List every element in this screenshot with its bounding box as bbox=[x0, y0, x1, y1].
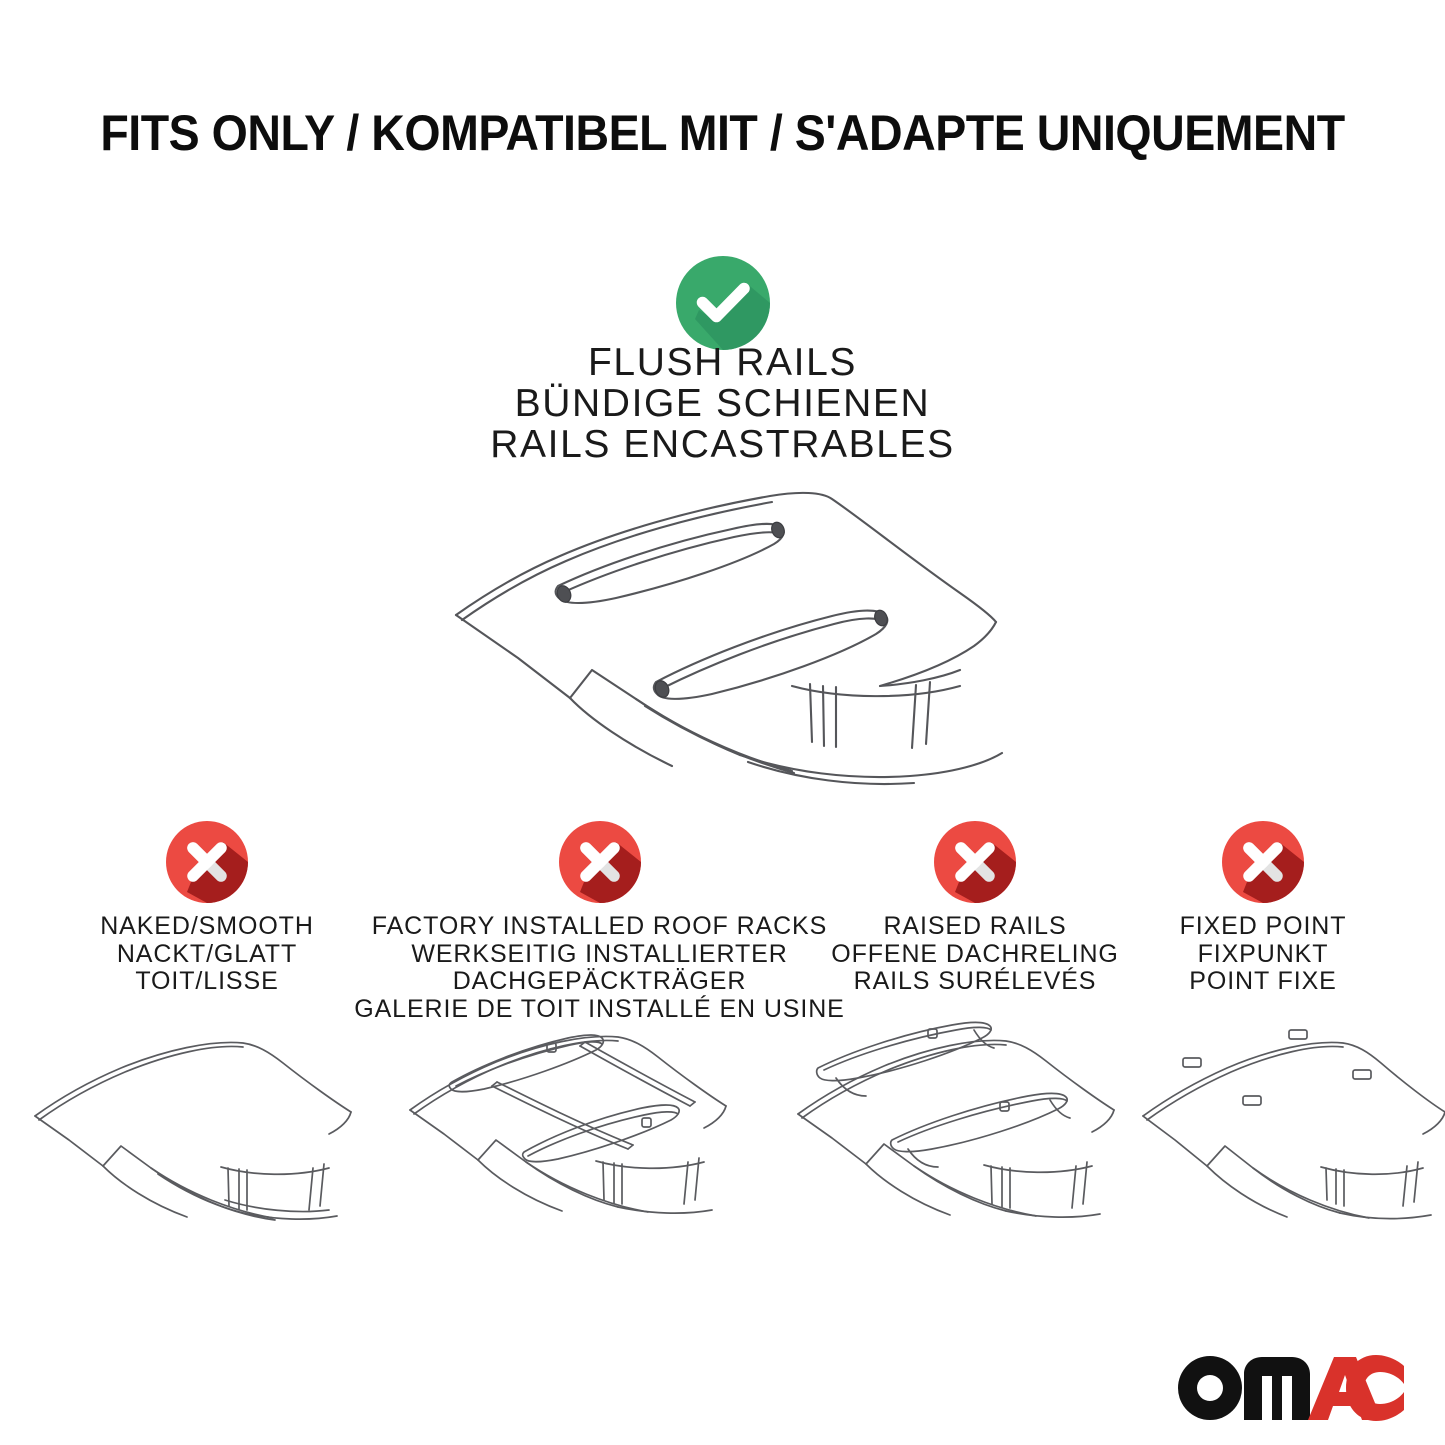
caption-line-en: NAKED/SMOOTH bbox=[100, 913, 314, 941]
incompatible-caption: FIXED POINT FIXPUNKT POINT FIXE bbox=[1180, 913, 1347, 996]
x-circle-icon bbox=[165, 820, 249, 904]
caption-line-de-2: DACHGEPÄCKTRÄGER bbox=[354, 968, 845, 996]
caption-line-fr: TOIT/LISSE bbox=[100, 968, 314, 996]
car-roof-flush-rails-illustration bbox=[440, 470, 1020, 790]
caption-line-de: FIXPUNKT bbox=[1180, 941, 1347, 969]
caption-line-de-1: WERKSEITIG INSTALLIERTER bbox=[354, 941, 845, 969]
compatible-label-fr: RAILS ENCASTRABLES bbox=[0, 424, 1445, 465]
compatible-label-de: BÜNDIGE SCHIENEN bbox=[0, 383, 1445, 424]
caption-line-en: FACTORY INSTALLED ROOF RACKS bbox=[354, 913, 845, 941]
x-circle-icon bbox=[933, 820, 1017, 904]
caption-line-fr: POINT FIXE bbox=[1180, 968, 1347, 996]
x-circle-icon bbox=[1221, 820, 1305, 904]
omac-logo bbox=[1176, 1352, 1404, 1422]
car-roof-factory-racks-illustration bbox=[400, 1000, 750, 1220]
caption-line-en: RAISED RAILS bbox=[831, 913, 1119, 941]
x-circle-icon bbox=[558, 820, 642, 904]
caption-line-de: OFFENE DACHRELING bbox=[831, 941, 1119, 969]
page-title: FITS ONLY / KOMPATIBEL MIT / S'ADAPTE UN… bbox=[51, 104, 1395, 162]
compatible-labels: FLUSH RAILS BÜNDIGE SCHIENEN RAILS ENCAS… bbox=[0, 342, 1445, 465]
caption-line-en: FIXED POINT bbox=[1180, 913, 1347, 941]
caption-line-fr: RAILS SURÉLEVÉS bbox=[831, 968, 1119, 996]
check-circle-icon bbox=[675, 255, 771, 351]
car-roof-raised-rails-illustration bbox=[788, 1008, 1138, 1220]
compatibility-infographic: FITS ONLY / KOMPATIBEL MIT / S'ADAPTE UN… bbox=[0, 0, 1445, 1445]
car-roof-fixed-point-illustration bbox=[1135, 1018, 1445, 1220]
compatible-label-en: FLUSH RAILS bbox=[0, 342, 1445, 383]
caption-line-de: NACKT/GLATT bbox=[100, 941, 314, 969]
incompatible-caption: RAISED RAILS OFFENE DACHRELING RAILS SUR… bbox=[831, 913, 1119, 996]
incompatible-caption: NAKED/SMOOTH NACKT/GLATT TOIT/LISSE bbox=[100, 913, 314, 996]
car-roof-naked-illustration bbox=[25, 1020, 375, 1220]
